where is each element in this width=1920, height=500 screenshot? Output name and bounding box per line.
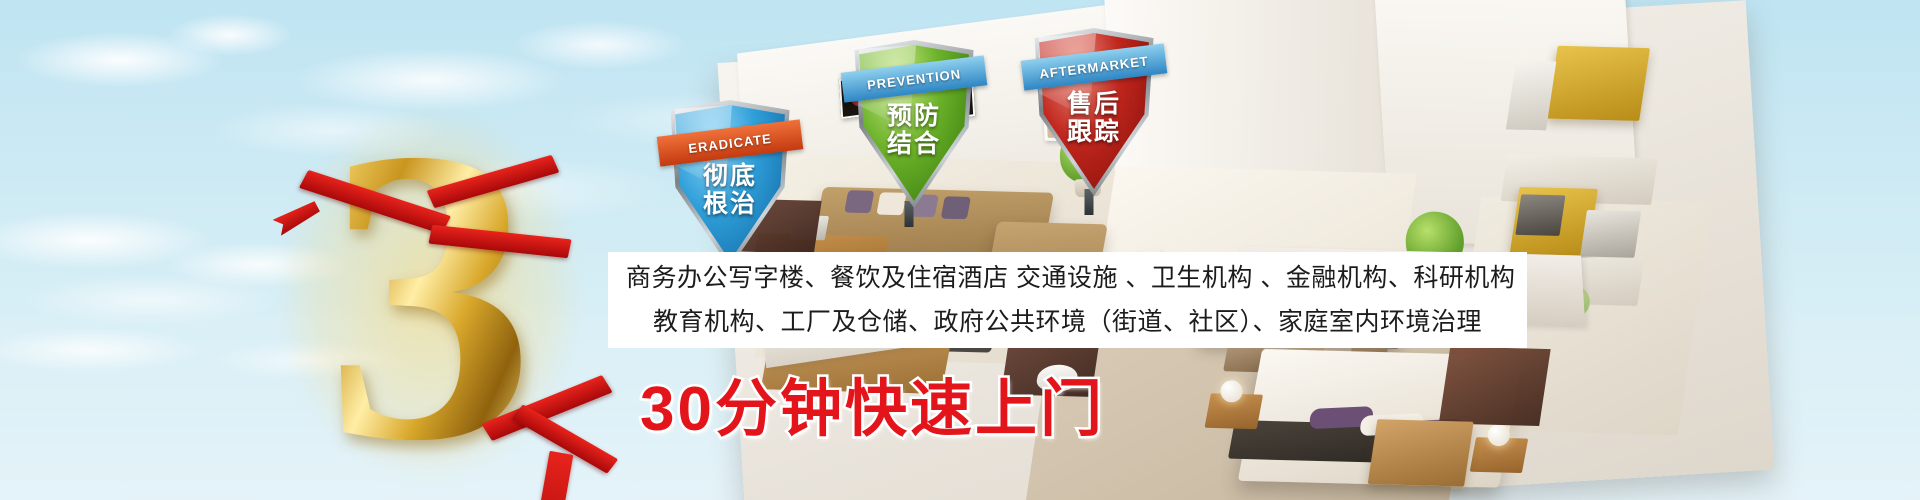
badge-cn-line-1: 彻底 [668, 162, 792, 190]
service-scope-line-1: 商务办公写字楼、餐饮及住宿酒店 交通设施 、卫生机构 、金融机构、科研机构 [626, 256, 1509, 300]
kitchen-upper-cabinet [1547, 46, 1650, 121]
badge-chinese-text: 售后 跟踪 [1032, 90, 1156, 146]
numeral-3-text: 3 [325, 80, 535, 500]
marble-slab [1439, 346, 1551, 425]
sink [1580, 210, 1641, 258]
badge-aftermarket: 售后 跟踪 AFTERMARKET [1032, 28, 1156, 196]
badge-band-label: AFTERMARKET [1039, 53, 1150, 81]
badge-chinese-text: 预防 结合 [852, 102, 976, 158]
headline-text: 30分钟快速上门 [640, 358, 1105, 448]
badge-eradicate: 彻底 根治 ERADICATE [668, 100, 792, 268]
promo-banner: 3 彻底 根治 ERADICATE 预防 结合 PREVE [0, 0, 1920, 500]
badge-band-label: PREVENTION [866, 66, 962, 92]
badge-chinese-text: 彻底 根治 [668, 162, 792, 218]
service-scope-panel: 商务办公写字楼、餐饮及住宿酒店 交通设施 、卫生机构 、金融机构、科研机构 教育… [608, 252, 1527, 348]
badge-prevention: 预防 结合 PREVENTION [852, 40, 976, 208]
badge-cn-line-1: 预防 [852, 102, 976, 130]
badge-band-label: ERADICATE [687, 130, 772, 155]
badge-cn-line-2: 结合 [852, 130, 976, 158]
hero-numeral-3: 3 [250, 80, 610, 500]
wood-cabinet [1368, 419, 1474, 486]
service-scope-line-2: 教育机构、工厂及仓储、政府公共环境（街道、社区）、家庭室内环境治理 [626, 300, 1509, 344]
oven [1515, 194, 1565, 236]
badge-cn-line-1: 售后 [1032, 90, 1156, 118]
badge-cn-line-2: 跟踪 [1032, 118, 1156, 146]
badge-cn-line-2: 根治 [668, 190, 792, 218]
